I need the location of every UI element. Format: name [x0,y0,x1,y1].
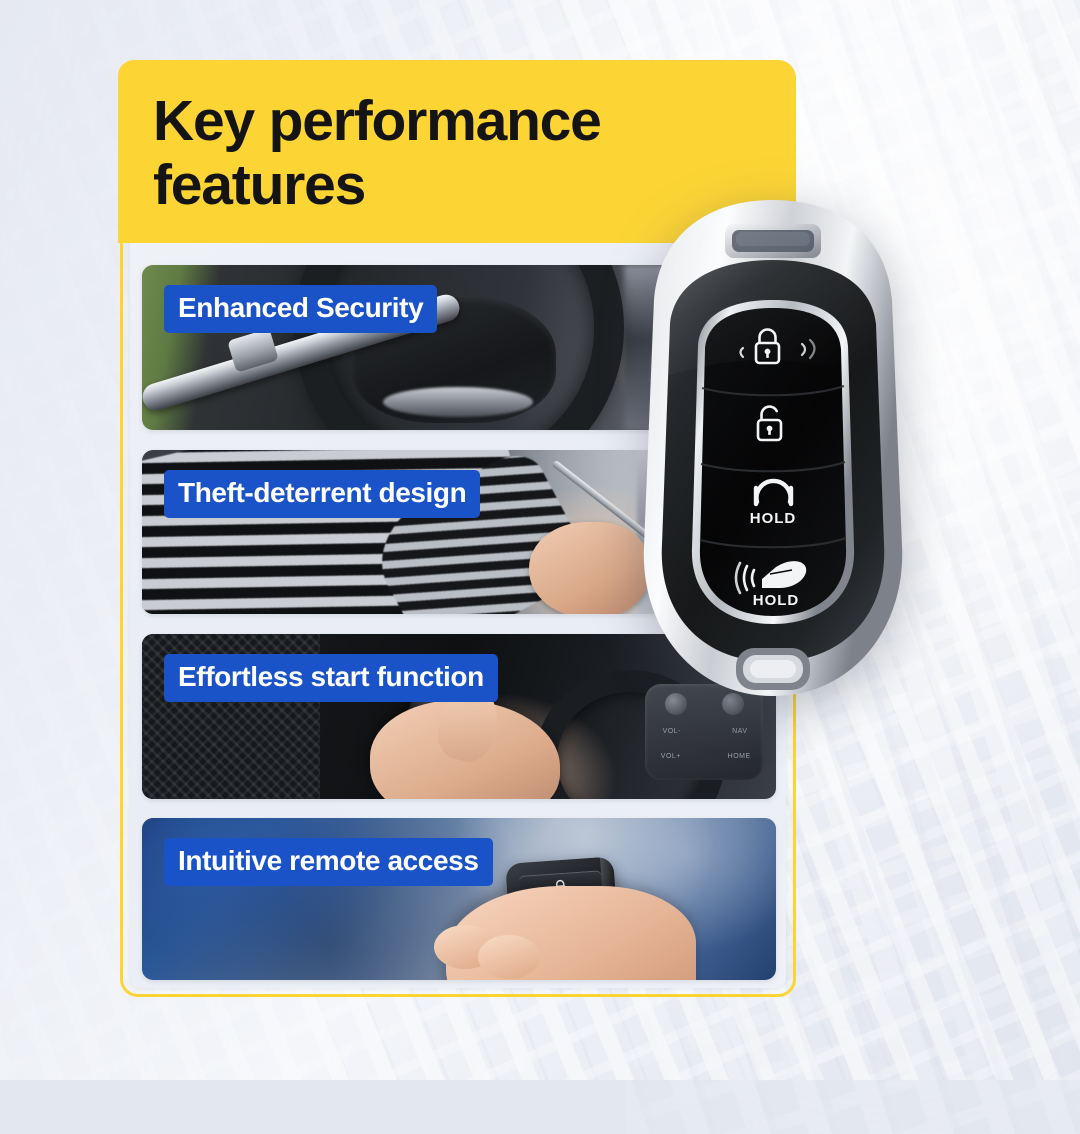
feature-label-theft-deterrent-design: Theft-deterrent design [164,470,480,518]
dash-label-vol-plus: VOL+ [661,753,681,760]
product-key-fob: HOLD HOLD [640,196,906,716]
steering-wheel-trim [383,387,533,417]
unlock-button[interactable] [700,392,848,464]
feature-label-effortless-start-function: Effortless start function [164,654,498,702]
feature-label-intuitive-remote-access: Intuitive remote access [164,838,493,886]
trunk-button[interactable]: HOLD [698,468,848,540]
key-fob-keyring-hole [736,648,810,690]
feature-row-intuitive-remote-access[interactable]: Intuitive remote access [142,818,776,980]
feature-label-enhanced-security: Enhanced Security [164,285,437,333]
dash-label-vol-minus: VOL- [663,728,681,735]
finger-middle [478,935,540,979]
panic-button-caption: HOLD [753,592,800,609]
panic-button[interactable]: HOLD [696,544,848,616]
trunk-button-caption: HOLD [750,510,797,527]
hand [529,522,649,614]
dash-label-home: HOME [728,753,751,760]
dash-label-nav: NAV [732,728,747,735]
